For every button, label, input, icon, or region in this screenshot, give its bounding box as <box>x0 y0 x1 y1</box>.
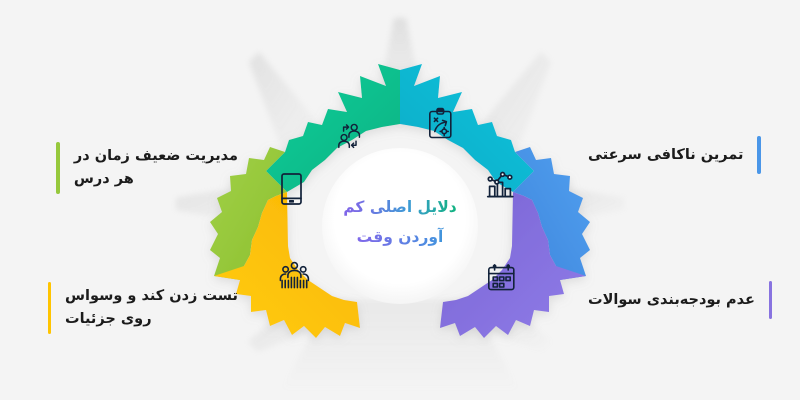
infographic-canvas: دلایل اصلی کم آوردن وقت تمرین ناکافی سرع… <box>0 0 800 400</box>
donut-wheel-graphic <box>0 0 800 400</box>
label-poor-time-management[interactable]: مدیریت ضعیف زمان در هر درس <box>56 142 238 194</box>
label-insufficient-speed-practice[interactable]: تمرین ناکافی سرعتی <box>588 136 761 174</box>
label-text: تست زدن کند و وسواس روی جزئیات <box>65 285 238 331</box>
label-text: مدیریت ضعیف زمان در هر درس <box>74 145 238 191</box>
label-no-question-budgeting[interactable]: عدم بودجه‌بندی سوالات <box>588 281 772 319</box>
label-slow-test-taking[interactable]: تست زدن کند و وسواس روی جزئیات <box>48 282 239 334</box>
label-bar-purple <box>769 281 773 319</box>
center-disc <box>322 148 478 304</box>
label-bar-green <box>56 142 60 194</box>
label-text: تمرین ناکافی سرعتی <box>588 144 743 167</box>
label-bar-blue <box>757 136 761 174</box>
label-bar-yellow <box>48 282 52 334</box>
label-text: عدم بودجه‌بندی سوالات <box>588 289 755 312</box>
